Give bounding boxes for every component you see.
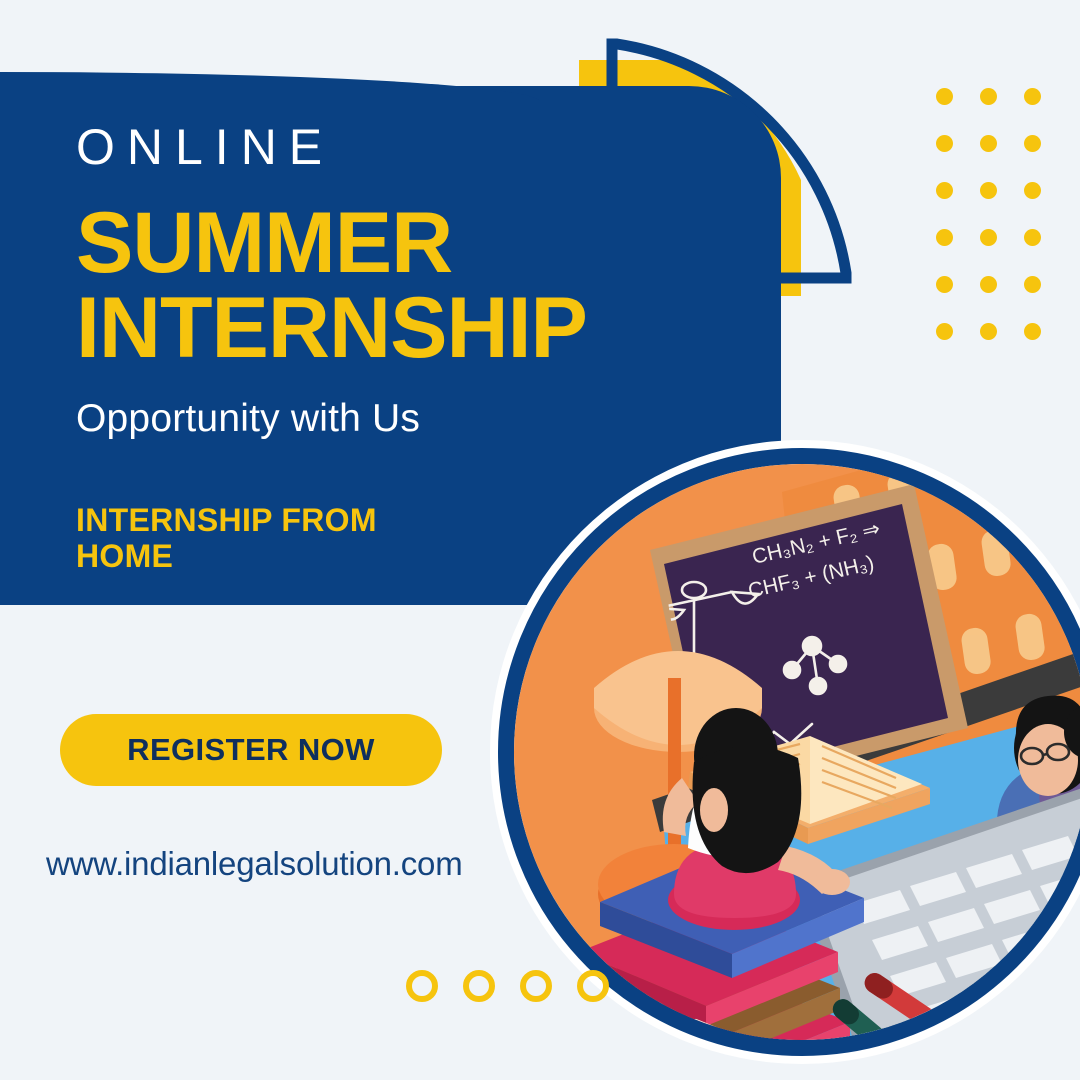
decorative-ring: [463, 970, 495, 1002]
grid-dot: [980, 135, 997, 152]
grid-dot: [936, 88, 953, 105]
website-url-text[interactable]: www.indianlegalsolution.com: [46, 845, 463, 883]
grid-dot: [936, 182, 953, 199]
grid-dot: [1024, 276, 1041, 293]
grid-dot: [980, 182, 997, 199]
grid-dot: [936, 323, 953, 340]
decorative-ring: [520, 970, 552, 1002]
grid-dot: [1024, 182, 1041, 199]
title-line-1: SUMMER: [76, 201, 781, 286]
eyebrow-text: ONLINE: [76, 118, 781, 177]
grid-dot: [936, 229, 953, 246]
grid-dot: [936, 276, 953, 293]
tagline-text: INTERNSHIP FROM HOME: [76, 503, 476, 575]
headline-text-block: ONLINE SUMMER INTERNSHIP Opportunity wit…: [0, 86, 781, 605]
subtitle-text: Opportunity with Us: [76, 397, 781, 441]
decorative-ring: [406, 970, 438, 1002]
register-now-button[interactable]: REGISTER NOW: [60, 714, 442, 786]
grid-dot: [980, 88, 997, 105]
ring-decoration-row: [406, 970, 609, 1002]
grid-dot: [980, 323, 997, 340]
grid-dot: [1024, 323, 1041, 340]
decorative-ring: [577, 970, 609, 1002]
dot-grid-decoration: [936, 88, 1068, 370]
grid-dot: [1024, 229, 1041, 246]
grid-dot: [936, 135, 953, 152]
grid-dot: [1024, 88, 1041, 105]
title-line-2: INTERNSHIP: [76, 286, 781, 371]
grid-dot: [1024, 135, 1041, 152]
grid-dot: [980, 276, 997, 293]
grid-dot: [980, 229, 997, 246]
poster-canvas: ONLINE SUMMER INTERNSHIP Opportunity wit…: [0, 0, 1080, 1080]
